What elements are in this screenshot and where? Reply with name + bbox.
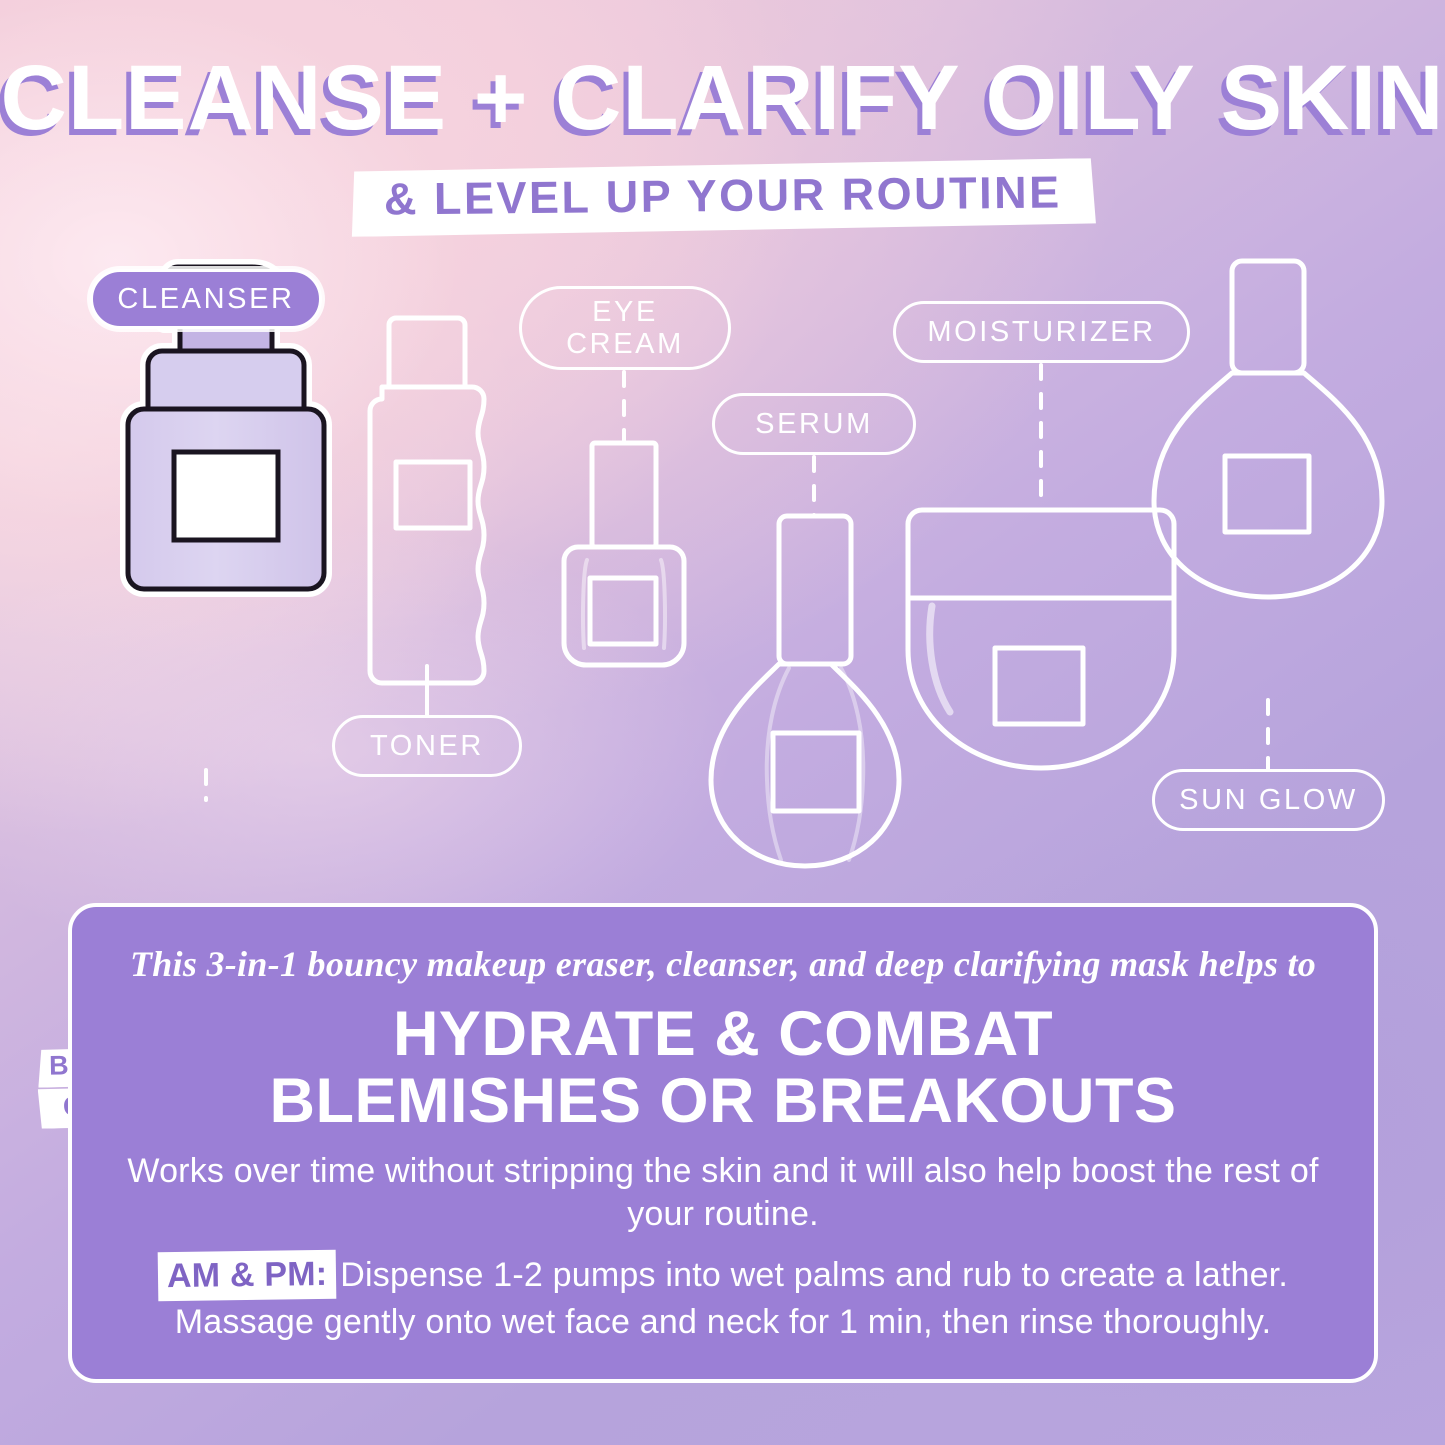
description-headline: HYDRATE & COMBAT BLEMISHES OR BREAKOUTS <box>118 1001 1328 1136</box>
routine-product-shelf: CLEANSER TONER EYE CREAM SERUM MOISTURIZ… <box>0 248 1445 888</box>
description-headline-line-2: BLEMISHES OR BREAKOUTS <box>118 1068 1328 1135</box>
description-usage: AM & PM:Dispense 1-2 pumps into wet palm… <box>118 1251 1328 1344</box>
description-body: Works over time without stripping the sk… <box>118 1150 1328 1237</box>
description-intro: This 3-in-1 bouncy makeup eraser, cleans… <box>118 943 1328 985</box>
sun-glow-bottle-illustration <box>1154 261 1382 597</box>
serum-bottle-illustration <box>711 516 899 866</box>
subtitle-banner: & LEVEL UP YOUR ROUTINE <box>349 158 1095 237</box>
product-description-card: This 3-in-1 bouncy makeup eraser, cleans… <box>68 903 1378 1383</box>
routine-label-serum[interactable]: SERUM <box>712 393 916 455</box>
page-subtitle: & LEVEL UP YOUR ROUTINE <box>383 166 1061 225</box>
routine-label-eye-cream[interactable]: EYE CREAM <box>519 286 731 370</box>
usage-label-badge: AM & PM: <box>158 1250 337 1302</box>
toner-bottle-illustration <box>370 318 484 683</box>
subtitle-banner-wrap: & LEVEL UP YOUR ROUTINE <box>0 162 1445 233</box>
routine-label-cleanser[interactable]: CLEANSER <box>90 269 322 329</box>
usage-instructions: Dispense 1-2 pumps into wet palms and ru… <box>175 1256 1288 1341</box>
header: CLEANSE + CLARIFY OILY SKIN & LEVEL UP Y… <box>0 0 1445 233</box>
routine-label-moisturizer[interactable]: MOISTURIZER <box>893 301 1190 363</box>
routine-label-toner[interactable]: TONER <box>332 715 522 777</box>
moisturizer-jar-illustration <box>908 510 1174 768</box>
description-headline-line-1: HYDRATE & COMBAT <box>118 1001 1328 1068</box>
page-title: CLEANSE + CLARIFY OILY SKIN <box>0 0 1445 144</box>
routine-label-sun-glow[interactable]: SUN GLOW <box>1152 769 1385 831</box>
eye-cream-bottle-illustration <box>564 443 684 665</box>
